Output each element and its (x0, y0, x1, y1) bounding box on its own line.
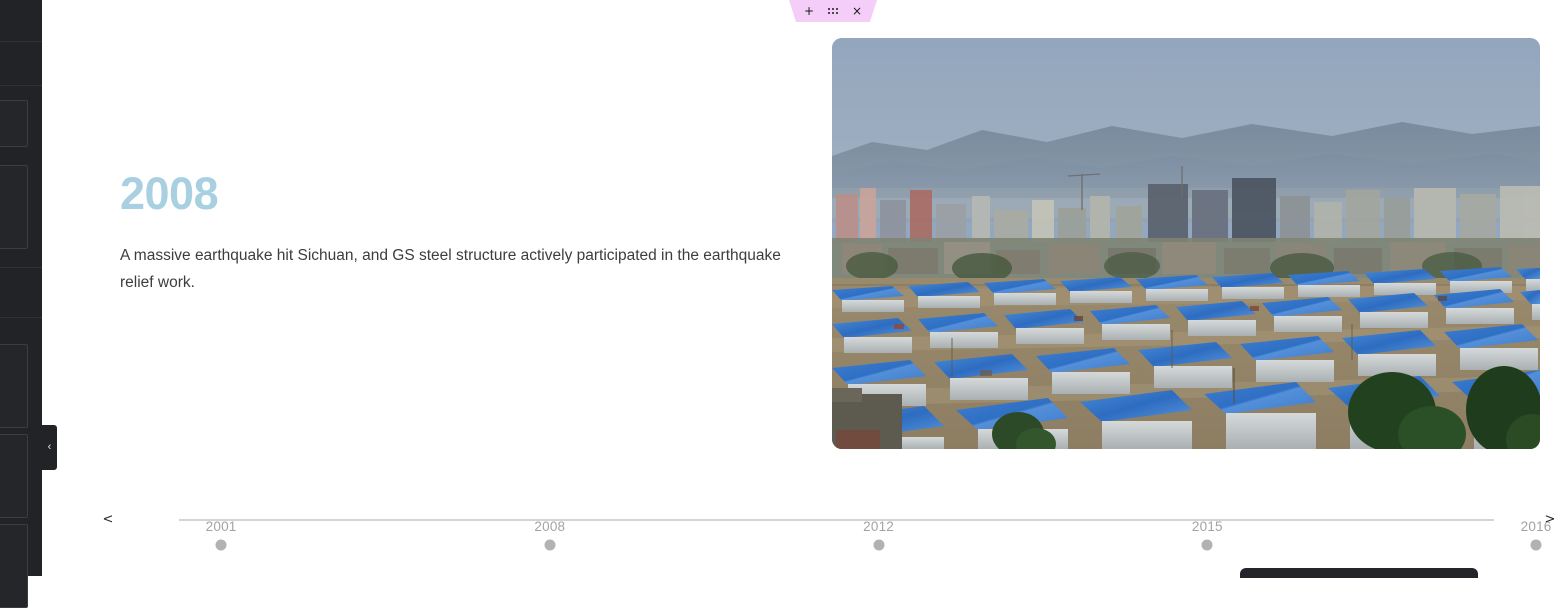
timeline-dot-2008[interactable] (544, 540, 555, 551)
chat-widget-launcher[interactable] (1240, 568, 1478, 578)
timeline-label-2001: 2001 (206, 519, 237, 534)
sidebar-thumb-5[interactable] (0, 524, 28, 608)
sidebar-section-3[interactable] (0, 86, 42, 268)
timeline-next-button[interactable]: > (1542, 512, 1558, 528)
timeline-dot-2001[interactable] (216, 540, 227, 551)
widget-toolbar: + × (789, 0, 877, 22)
timeline-navigation: < 2001 2008 2012 2015 2016 > (42, 488, 1567, 538)
drag-handle-icon[interactable] (828, 8, 838, 14)
plus-icon[interactable]: + (804, 5, 814, 17)
timeline-slide: 2008 A massive earthquake hit Sichuan, a… (42, 0, 1567, 576)
close-icon[interactable]: × (852, 5, 862, 17)
sidebar-section-5[interactable] (0, 318, 42, 576)
slide-photo (832, 38, 1540, 449)
sidebar-thumb-1[interactable] (0, 100, 28, 147)
slide-year-heading: 2008 (120, 170, 820, 217)
timeline-dot-2012[interactable] (873, 540, 884, 551)
sidebar-section-4[interactable] (0, 268, 42, 318)
sidebar-thumb-4[interactable] (0, 434, 28, 518)
sidebar-thumb-3[interactable] (0, 344, 28, 428)
timeline-label-2008: 2008 (534, 519, 565, 534)
sidebar-collapse-toggle[interactable]: ‹ (42, 425, 57, 470)
sidebar-section-2[interactable] (0, 42, 42, 86)
timeline-prev-button[interactable]: < (100, 512, 116, 528)
timeline-dot-2015[interactable] (1202, 540, 1213, 551)
timeline-track[interactable]: 2001 2008 2012 2015 2016 (179, 519, 1494, 521)
editor-sidebar (0, 0, 42, 576)
sidebar-section-1[interactable] (0, 0, 42, 42)
timeline-label-2012: 2012 (863, 519, 894, 534)
relief-shelters-illustration (832, 38, 1540, 449)
timeline-dot-2016[interactable] (1531, 540, 1542, 551)
slide-text-block: 2008 A massive earthquake hit Sichuan, a… (120, 170, 820, 297)
sidebar-thumb-2[interactable] (0, 165, 28, 249)
timeline-label-2015: 2015 (1192, 519, 1223, 534)
slide-description: A massive earthquake hit Sichuan, and GS… (120, 243, 810, 296)
